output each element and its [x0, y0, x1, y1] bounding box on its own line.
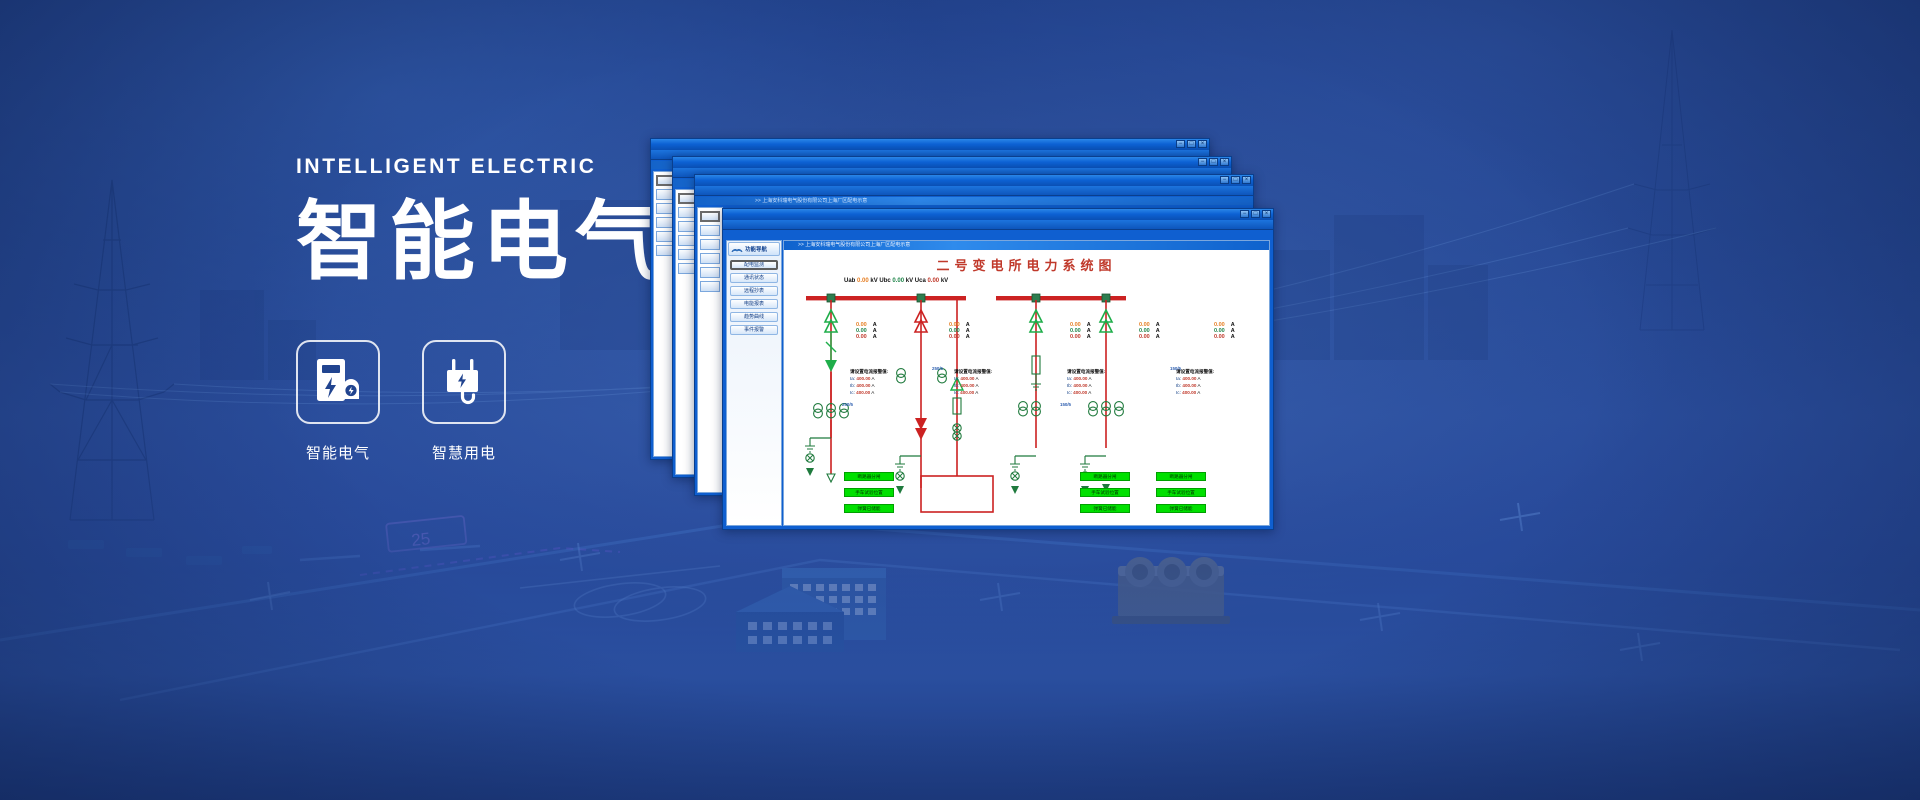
- strip-button[interactable]: [700, 253, 720, 264]
- setpoint-key: Ic:: [954, 390, 959, 395]
- uca-label: Uca: [915, 278, 926, 284]
- current-group-3: 0.00A 0.00A 0.00A: [1070, 322, 1091, 340]
- current-unit: A: [1156, 334, 1160, 340]
- voltage-readout-row: Uab 0.00 kV Ubc 0.00 kV Uca 0.00 kV: [844, 278, 948, 284]
- strip-button[interactable]: [700, 211, 720, 222]
- book-icon: [731, 245, 743, 253]
- setpoint-unit: A: [871, 383, 874, 388]
- nav-item-comm-status[interactable]: 通讯状态: [730, 273, 778, 283]
- ct-ratio-1: 250/5: [842, 402, 853, 407]
- close-button[interactable]: ×: [1262, 210, 1271, 218]
- setpoint-block-3: 请设置电流报警值: Ia: 400.00 A Ib: 400.00 A Ic: …: [1067, 368, 1105, 396]
- setpoint-unit: A: [1088, 383, 1091, 388]
- setpoint-unit: A: [975, 390, 978, 395]
- window-titlebar[interactable]: − □ ×: [673, 157, 1231, 168]
- feature-smart-electricity[interactable]: 智慧用电: [422, 340, 506, 463]
- nav-header-label: 功能导航: [745, 245, 767, 253]
- minimize-button[interactable]: −: [1176, 140, 1185, 148]
- minimize-button[interactable]: −: [1198, 158, 1207, 166]
- strip-button[interactable]: [700, 225, 720, 236]
- nav-item-power-monitoring[interactable]: 配电监测: [730, 260, 778, 270]
- setpoint-header: 请设置电流报警值:: [1176, 368, 1214, 375]
- setpoint-key: Ia:: [1176, 376, 1181, 381]
- canvas-caption: >> 上海安科瑞电气股份有限公司上海厂区配电示意: [784, 241, 1269, 250]
- strip-button[interactable]: [700, 239, 720, 250]
- stacked-windows: − □ × >> 上海安科瑞电气股份有限公司上海厂区配电示意 − □ ×: [650, 138, 1290, 538]
- setpoint-header: 请设置电流报警值:: [1067, 368, 1105, 375]
- strip-button[interactable]: [700, 281, 720, 292]
- window-titlebar[interactable]: − □ ×: [695, 175, 1253, 186]
- setpoint-value[interactable]: 400.00: [1073, 383, 1087, 388]
- setpoint-key: Ia:: [1067, 376, 1072, 381]
- current-unit: A: [1087, 334, 1091, 340]
- setpoint-key: Ib:: [850, 383, 855, 388]
- setpoint-key: Ib:: [1067, 383, 1072, 388]
- current-ic: 0.00: [1214, 334, 1225, 340]
- minimize-button[interactable]: −: [1220, 176, 1229, 184]
- nav-item-remote-meter-reading[interactable]: 远程抄表: [730, 286, 778, 296]
- close-button[interactable]: ×: [1198, 140, 1207, 148]
- maximize-button[interactable]: □: [1187, 140, 1196, 148]
- uca-value: 0.00: [927, 278, 939, 284]
- current-group-2: 0.00A 0.00A 0.00A: [949, 322, 970, 340]
- window-controls[interactable]: − □ ×: [1240, 210, 1271, 218]
- setpoint-value[interactable]: 400.00: [856, 383, 870, 388]
- setpoint-key: Ib:: [954, 383, 959, 388]
- feature-icon-box: [422, 340, 506, 424]
- setpoint-block-4: 请设置电流报警值: Ia: 400.00 A Ib: 400.00 A Ic: …: [1176, 368, 1214, 396]
- setpoint-key: Ic:: [1067, 390, 1072, 395]
- current-ic: 0.00: [1139, 334, 1150, 340]
- window-menubar[interactable]: [723, 220, 1273, 230]
- nav-item-energy-report[interactable]: 电能报表: [730, 299, 778, 309]
- window-controls[interactable]: − □ ×: [1198, 158, 1229, 166]
- setpoint-unit: A: [871, 390, 874, 395]
- feature-row: 智能电气 智慧用电: [296, 340, 506, 463]
- setpoint-value[interactable]: 400.00: [856, 376, 870, 381]
- nav-item-event-alarm[interactable]: 事件报警: [730, 325, 778, 335]
- setpoint-value[interactable]: 400.00: [960, 383, 974, 388]
- nav-list: 配电监测 通讯状态 远程抄表 电能报表 趋势曲线 事件报警: [727, 257, 781, 335]
- status-button-spring-charged-right[interactable]: 弹簧已储能: [1156, 504, 1206, 513]
- setpoint-key: Ib:: [1176, 383, 1181, 388]
- ct-ratio-2: 250/5: [932, 366, 943, 371]
- current-ic: 0.00: [856, 334, 867, 340]
- ubc-value: 0.00: [892, 278, 904, 284]
- status-button-spring-charged-left[interactable]: 弹簧已储能: [844, 504, 894, 513]
- close-button[interactable]: ×: [1220, 158, 1229, 166]
- status-button-breaker-open-left[interactable]: 断路器分闸: [844, 472, 894, 481]
- current-unit: A: [1231, 334, 1235, 340]
- setpoint-block-1: 请设置电流报警值: Ia: 400.00 A Ib: 400.00 A Ic: …: [850, 368, 888, 396]
- window-titlebar[interactable]: − □ ×: [723, 209, 1273, 220]
- setpoint-unit: A: [975, 376, 978, 381]
- uab-value: 0.00: [857, 278, 869, 284]
- setpoint-unit: A: [1197, 390, 1200, 395]
- maximize-button[interactable]: □: [1231, 176, 1240, 184]
- uab-unit: kV: [870, 278, 877, 284]
- setpoint-value[interactable]: 400.00: [1073, 390, 1087, 395]
- nav-item-trend-curve[interactable]: 趋势曲线: [730, 312, 778, 322]
- ct-ratio-4: 150/5: [1170, 366, 1181, 371]
- setpoint-value[interactable]: 400.00: [856, 390, 870, 395]
- uab-label: Uab: [844, 278, 855, 284]
- setpoint-header: 请设置电流报警值:: [850, 368, 888, 375]
- window-controls[interactable]: − □ ×: [1176, 140, 1207, 148]
- status-button-truck-test-right[interactable]: 手车试验位置: [1156, 488, 1206, 497]
- setpoint-block-2: 请设置电流报警值: Ia: 400.00 A Ib: 400.00 A Ic: …: [954, 368, 992, 396]
- setpoint-header: 请设置电流报警值:: [954, 368, 992, 375]
- setpoint-value[interactable]: 400.00: [960, 376, 974, 381]
- feature-label: 智慧用电: [422, 442, 506, 463]
- setpoint-unit: A: [1197, 376, 1200, 381]
- strip-button[interactable]: [700, 267, 720, 278]
- single-line-diagram: 二号变电所电力系统图 Uab 0.00 kV Ubc 0.00 kV Uca 0…: [784, 250, 1269, 525]
- setpoint-unit: A: [871, 376, 874, 381]
- power-plug-icon: [439, 356, 489, 408]
- status-button-truck-test-mid[interactable]: 手车试验位置: [1080, 488, 1130, 497]
- close-button[interactable]: ×: [1242, 176, 1251, 184]
- uca-unit: kV: [941, 278, 948, 284]
- setpoint-key: Ic:: [1176, 390, 1181, 395]
- status-button-spring-charged-mid[interactable]: 弹簧已储能: [1080, 504, 1130, 513]
- maximize-button[interactable]: □: [1251, 210, 1260, 218]
- feature-intelligent-electric[interactable]: 智能电气: [296, 340, 380, 463]
- setpoint-unit: A: [1088, 376, 1091, 381]
- setpoint-value[interactable]: 400.00: [1182, 390, 1196, 395]
- current-ic: 0.00: [949, 334, 960, 340]
- window-menubar[interactable]: [695, 186, 1253, 196]
- status-button-truck-test-left[interactable]: 手车试验位置: [844, 488, 894, 497]
- feature-label: 智能电气: [296, 442, 380, 463]
- window-content: 功能导航 配电监测 通讯状态 远程抄表 电能报表 趋势曲线 事件报警 >> 上海…: [725, 239, 1271, 527]
- current-group-4: 0.00A 0.00A 0.00A: [1139, 322, 1160, 340]
- setpoint-value[interactable]: 400.00: [960, 390, 974, 395]
- function-nav-panel: 功能导航 配电监测 通讯状态 远程抄表 电能报表 趋势曲线 事件报警: [726, 240, 782, 526]
- current-unit: A: [966, 334, 970, 340]
- charging-cabinet-icon: [313, 356, 363, 408]
- ubc-unit: kV: [906, 278, 913, 284]
- setpoint-value[interactable]: 400.00: [1182, 376, 1196, 381]
- diagram-title: 二号变电所电力系统图: [784, 255, 1269, 274]
- feature-icon-box: [296, 340, 380, 424]
- setpoint-key: Ic:: [850, 390, 855, 395]
- maximize-button[interactable]: □: [1209, 158, 1218, 166]
- status-button-breaker-open-mid[interactable]: 断路器分闸: [1080, 472, 1130, 481]
- diagram-canvas: >> 上海安科瑞电气股份有限公司上海厂区配电示意 二号变电所电力系统图 Uab …: [783, 240, 1270, 526]
- setpoint-unit: A: [1197, 383, 1200, 388]
- setpoint-value[interactable]: 400.00: [1073, 376, 1087, 381]
- window-controls[interactable]: − □ ×: [1220, 176, 1251, 184]
- ct-ratio-3: 150/5: [1060, 402, 1071, 407]
- window-titlebar[interactable]: − □ ×: [651, 139, 1209, 150]
- current-unit: A: [873, 334, 877, 340]
- setpoint-unit: A: [975, 383, 978, 388]
- status-button-breaker-open-right[interactable]: 断路器分闸: [1156, 472, 1206, 481]
- current-ic: 0.00: [1070, 334, 1081, 340]
- setpoint-unit: A: [1088, 390, 1091, 395]
- current-group-1: 0.00A 0.00A 0.00A: [856, 322, 877, 340]
- setpoint-value[interactable]: 400.00: [1182, 383, 1196, 388]
- window-side-strip[interactable]: [697, 207, 723, 493]
- setpoint-key: Ia:: [954, 376, 959, 381]
- nav-header: 功能导航: [728, 242, 780, 256]
- current-group-5: 0.00A 0.00A 0.00A: [1214, 322, 1235, 340]
- app-window-active[interactable]: − □ × 功能导航 配电监测 通讯状态 远程抄表 电能报表: [722, 208, 1274, 530]
- minimize-button[interactable]: −: [1240, 210, 1249, 218]
- setpoint-key: Ia:: [850, 376, 855, 381]
- ubc-label: Ubc: [879, 278, 890, 284]
